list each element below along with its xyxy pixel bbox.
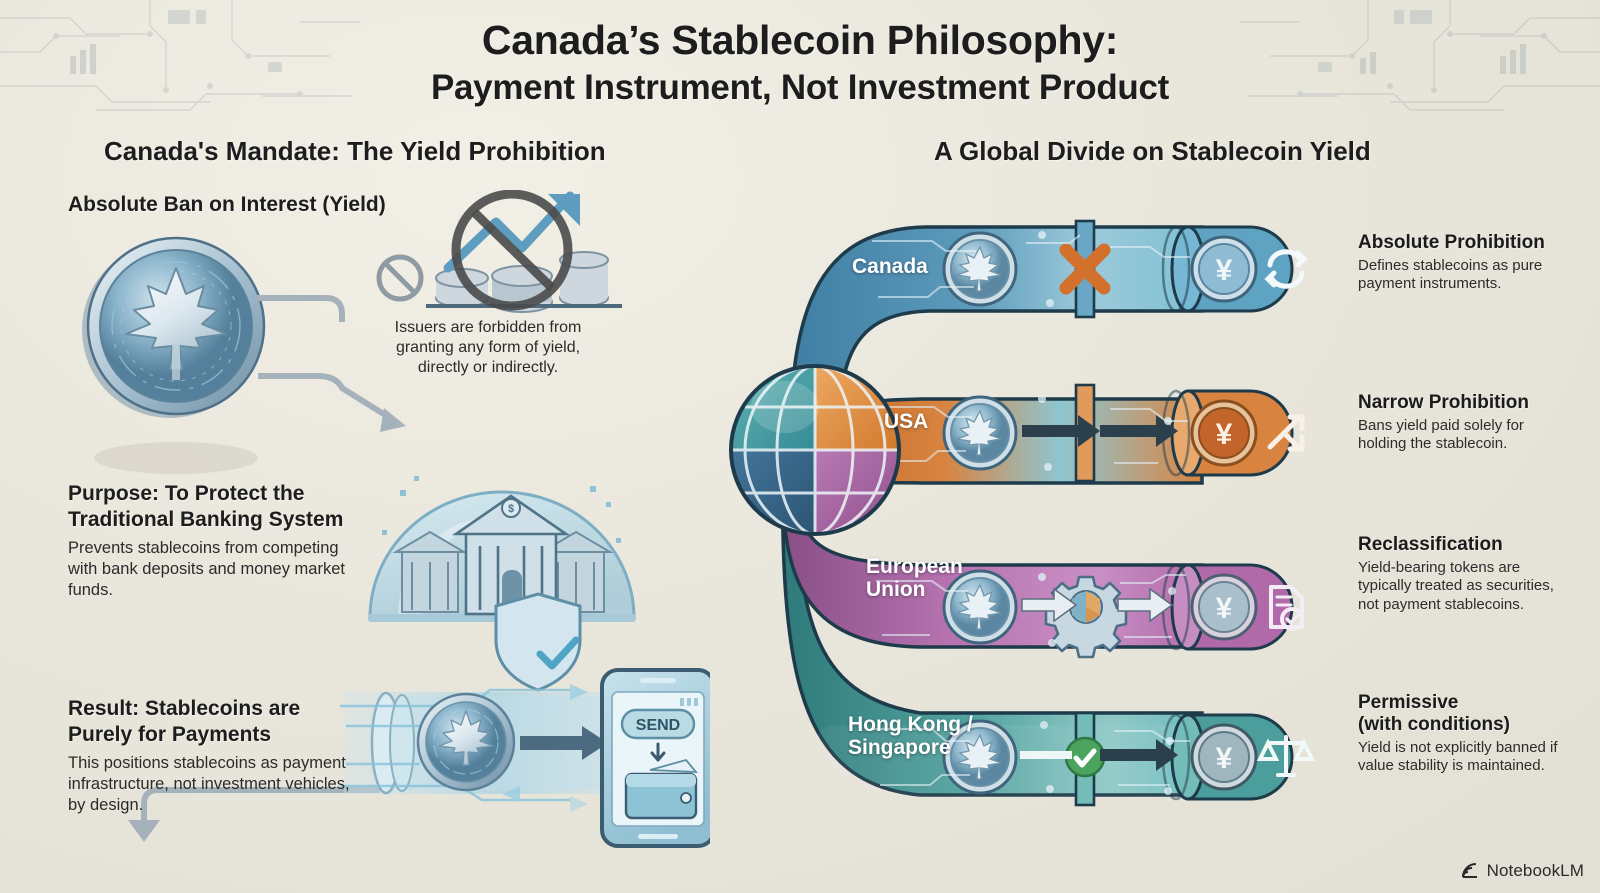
row-desc-1: Defines stablecoins as pure payment inst… bbox=[1358, 257, 1568, 294]
yen-coins: ¥ ¥ ¥ ¥ bbox=[1192, 237, 1256, 789]
pipe-label-canada: Canada bbox=[852, 255, 928, 278]
row-title-4-line-1: Permissive bbox=[1358, 692, 1568, 714]
pipe-label-eu-line-2: Union bbox=[866, 578, 963, 601]
svg-text:$: $ bbox=[508, 503, 514, 515]
yen-symbol-hong-kong: ¥ bbox=[1216, 742, 1233, 775]
title-line-2: Payment Instrument, Not Investment Produ… bbox=[0, 67, 1600, 109]
left-block-2-heading: Purpose: To Protect the Traditional Bank… bbox=[68, 481, 368, 532]
row-title-4-line-2: (with conditions) bbox=[1358, 714, 1568, 736]
row-label-reclassification: Reclassification Yield-bearing tokens ar… bbox=[1358, 534, 1568, 614]
yen-symbol-eu: ¥ bbox=[1216, 592, 1233, 625]
bank-dome-graphic: $ bbox=[368, 476, 636, 690]
phone-send-button-label: SEND bbox=[636, 717, 680, 734]
row-title-1: Absolute Prohibition bbox=[1358, 232, 1568, 254]
connector-lines bbox=[256, 298, 390, 418]
row-desc-2: Bans yield paid solely for holding the s… bbox=[1358, 417, 1568, 454]
notebooklm-watermark: NotebookLM bbox=[1460, 861, 1584, 881]
pipe-label-european-union: European Union bbox=[866, 555, 963, 601]
pipe-label-eu-line-1: European bbox=[866, 555, 963, 578]
row-desc-3: Yield-bearing tokens are typically treat… bbox=[1358, 559, 1568, 614]
notebooklm-spiral-icon bbox=[1460, 861, 1480, 881]
pipe-circuit-lines bbox=[872, 235, 1190, 785]
yen-symbol-usa: ¥ bbox=[1216, 418, 1233, 451]
title-line-1: Canada’s Stablecoin Philosophy: bbox=[0, 18, 1600, 64]
pipe-label-hk-line-2: Singapore bbox=[848, 736, 973, 759]
left-block-1-heading: Absolute Ban on Interest (Yield) bbox=[68, 192, 438, 218]
row-label-permissive: Permissive (with conditions) Yield is no… bbox=[1358, 692, 1568, 776]
pipe-circuit-nodes bbox=[1038, 231, 1176, 795]
yen-symbol-canada: ¥ bbox=[1216, 254, 1233, 287]
right-column-heading: A Global Divide on Stablecoin Yield bbox=[934, 136, 1371, 167]
pipe-label-usa: USA bbox=[884, 410, 928, 433]
outcome-icons bbox=[1260, 252, 1312, 775]
global-divide-diagram: ¥ ¥ ¥ ¥ bbox=[690, 185, 1410, 885]
pipe-label-hong-kong-singapore: Hong Kong / Singapore bbox=[848, 713, 973, 759]
maple-leaf-coin-large bbox=[82, 238, 264, 474]
left-block-2-body: Prevents stablecoins from competing with… bbox=[68, 538, 368, 601]
infographic-canvas: Canada’s Stablecoin Philosophy: Payment … bbox=[0, 0, 1600, 893]
row-desc-4: Yield is not explicitly banned if value … bbox=[1358, 739, 1568, 776]
left-block-1-note: Issuers are forbidden from granting any … bbox=[382, 318, 594, 378]
left-column-heading: Canada's Mandate: The Yield Prohibition bbox=[104, 136, 606, 167]
left-block-3-heading: Result: Stablecoins are Purely for Payme… bbox=[68, 696, 358, 747]
row-title-3: Reclassification bbox=[1358, 534, 1568, 556]
row-label-narrow-prohibition: Narrow Prohibition Bans yield paid solel… bbox=[1358, 392, 1568, 454]
left-block-3: Result: Stablecoins are Purely for Payme… bbox=[68, 696, 358, 817]
pipe-coins bbox=[944, 233, 1016, 793]
left-block-1: Absolute Ban on Interest (Yield) bbox=[68, 192, 438, 218]
row-label-absolute-prohibition: Absolute Prohibition Defines stablecoins… bbox=[1358, 232, 1568, 294]
pipe-label-hk-line-1: Hong Kong / bbox=[848, 713, 973, 736]
left-block-2: Purpose: To Protect the Traditional Bank… bbox=[68, 481, 368, 602]
page-title: Canada’s Stablecoin Philosophy: Payment … bbox=[0, 18, 1600, 109]
notebooklm-label: NotebookLM bbox=[1487, 861, 1584, 881]
row-title-2: Narrow Prohibition bbox=[1358, 392, 1568, 414]
arrow-head-down-icon bbox=[128, 820, 160, 842]
arrow-head-icon bbox=[380, 408, 406, 432]
globe-quadrant-icon bbox=[731, 366, 899, 534]
left-block-3-body: This positions stablecoins as payment in… bbox=[68, 753, 358, 816]
shield-check-icon bbox=[496, 594, 580, 690]
